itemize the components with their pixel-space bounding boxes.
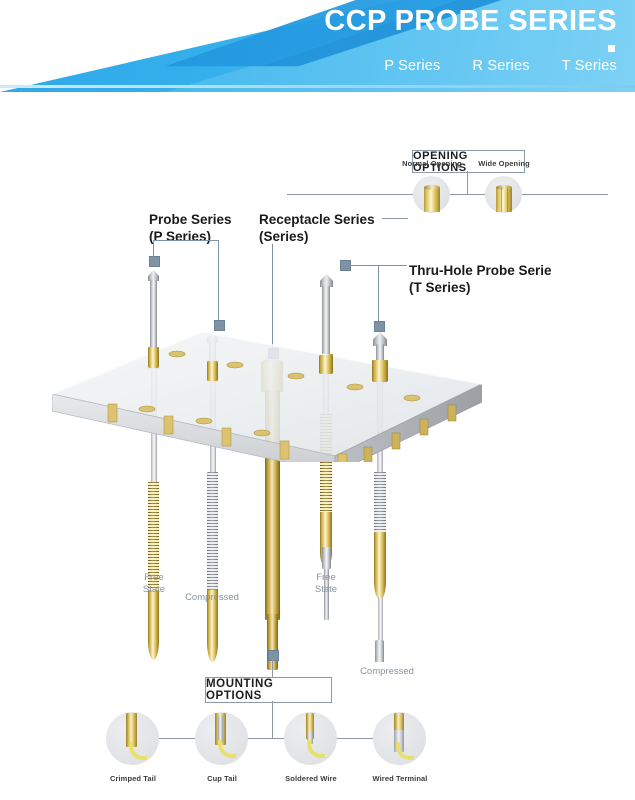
t-comp-thru-tip	[375, 640, 384, 662]
p-free-tail	[148, 590, 159, 660]
callout-thru-hole-line1: Thru-Hole Probe Serie	[409, 262, 552, 279]
normal-opening-cylinder	[424, 187, 440, 212]
header-square-marker	[608, 45, 615, 52]
t-comp-spring	[374, 472, 386, 534]
callout-receptacle-series-line1: Receptacle Series	[259, 211, 375, 228]
mounting-rail	[136, 738, 412, 739]
t-comp-tail	[374, 532, 386, 600]
plate-collar-p-free	[148, 348, 159, 368]
leader-marker-p-compressed	[214, 320, 225, 331]
callout-thru-hole-series: Thru-Hole Probe Serie (T Series)	[409, 262, 552, 296]
opening-options-rail-left	[287, 194, 400, 195]
tab-r-series[interactable]: R Series	[472, 58, 529, 74]
leader-stem-p-compressed	[218, 240, 219, 320]
callout-probe-series-line2: (P Series)	[149, 228, 232, 245]
leader-marker-t-compressed	[374, 321, 385, 332]
diagram-canvas: OPENING OPTIONS Normal Opening Wide Open…	[0, 92, 635, 800]
plate-svg	[52, 332, 482, 462]
page-title: CCP PROBE SERIES	[324, 5, 617, 38]
mounting-stem-top	[272, 658, 273, 677]
label-p-compressed-line1: Compressed	[179, 592, 245, 604]
plate-collar-p-comp	[207, 361, 218, 381]
series-tab-list: P Series R Series T Series	[384, 58, 617, 74]
wide-opening-slot-left	[501, 187, 502, 212]
label-p-compressed: Compressed	[179, 592, 245, 604]
wide-opening-label: Wide Opening	[470, 159, 538, 168]
wide-opening-cylinder	[496, 187, 512, 212]
cup-tail-label: Cup Tail	[187, 774, 257, 783]
leader-stem-p-free	[153, 240, 154, 257]
p-comp-spring	[207, 472, 218, 592]
label-t-compressed: Compressed	[354, 666, 420, 678]
page-header: CCP PROBE SERIES P Series R Series T Ser…	[0, 0, 635, 92]
cup-tail-core	[218, 716, 223, 742]
label-t-free-line1: Free	[304, 572, 348, 584]
label-t-free-state: Free State	[304, 572, 348, 595]
leader-stem-t-compressed	[378, 265, 379, 321]
callout-thru-hole-line2: (T Series)	[409, 279, 552, 296]
test-fixture-plate	[52, 332, 482, 462]
wired-terminal-label: Wired Terminal	[363, 774, 437, 783]
label-p-free-state: Free State	[132, 572, 176, 595]
callout-receptacle-series: Receptacle Series (Series)	[259, 211, 375, 245]
leader-marker-mounting	[268, 650, 279, 661]
label-p-free-line1: Free	[132, 572, 176, 584]
plate-collar-t-comp	[372, 361, 388, 382]
receptacle-to-opening-link	[382, 218, 408, 219]
crimped-tail-label: Crimped Tail	[98, 774, 168, 783]
wide-opening-cylinder-top	[496, 185, 512, 190]
tab-p-series[interactable]: P Series	[384, 58, 440, 74]
mounting-stem-bottom	[272, 701, 273, 738]
leader-marker-p-free	[149, 256, 160, 267]
normal-opening-label: Normal Opening	[398, 159, 466, 168]
opening-options-rail-right	[534, 194, 608, 195]
label-t-compressed-line1: Compressed	[354, 666, 420, 678]
leader-rail-p	[153, 240, 218, 241]
normal-opening-cylinder-top	[424, 185, 440, 190]
mounting-options-box: MOUNTING OPTIONS	[205, 677, 332, 703]
callout-receptacle-series-line2: (Series)	[259, 228, 375, 245]
header-underline	[0, 85, 635, 88]
plate-collar-t-free	[319, 355, 333, 374]
callout-probe-series-line1: Probe Series	[149, 211, 232, 228]
label-t-free-line2: State	[304, 584, 348, 596]
soldered-wire-label: Soldered Wire	[275, 774, 347, 783]
opening-options-stem	[467, 171, 468, 194]
wide-opening-slot-right	[507, 187, 508, 212]
tab-t-series[interactable]: T Series	[562, 58, 617, 74]
label-p-free-line2: State	[132, 584, 176, 596]
t-free-thru-shoulder	[322, 547, 331, 569]
